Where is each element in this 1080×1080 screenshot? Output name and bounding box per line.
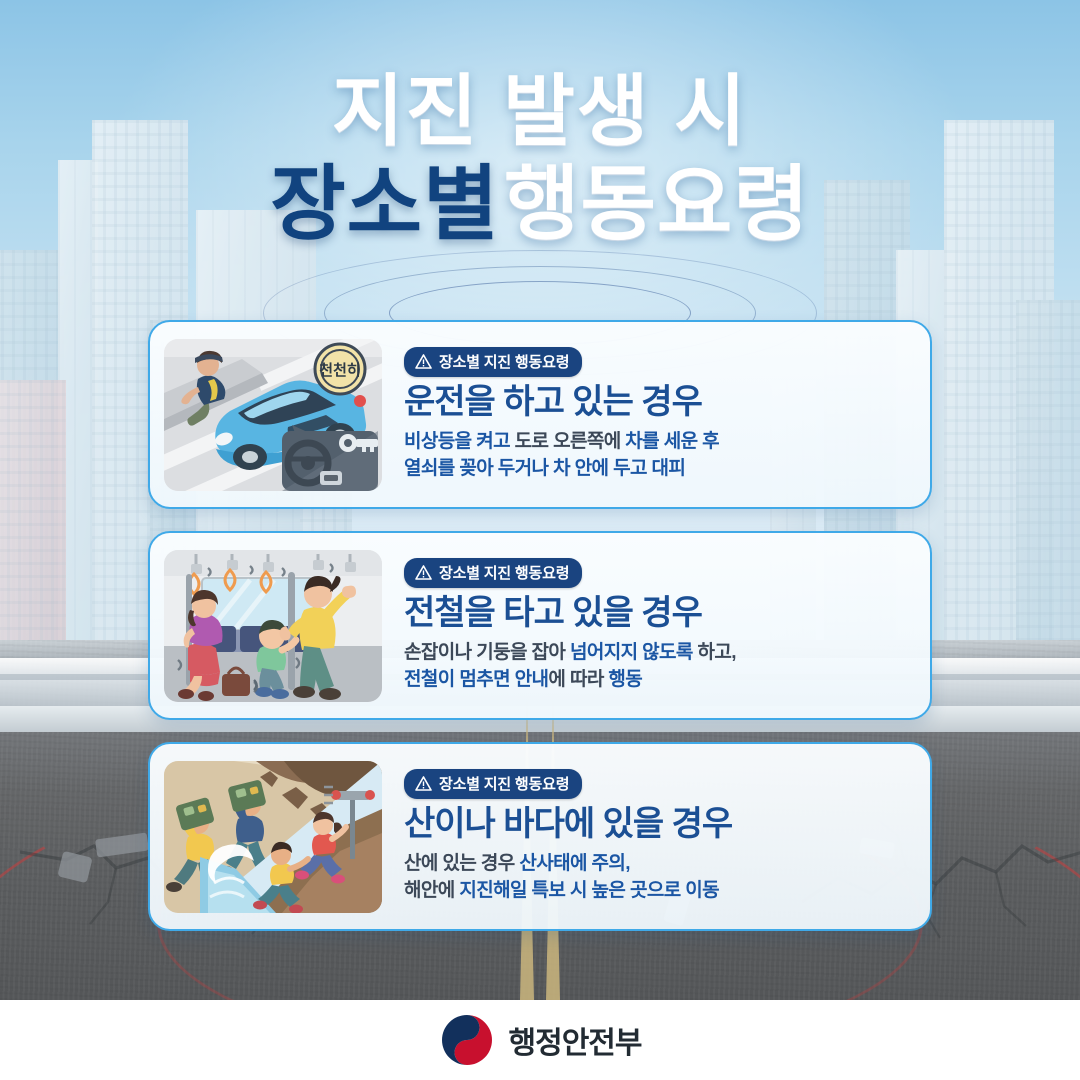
poster-title: 지진 발생 시 장소별 행동요령: [0, 72, 1080, 302]
card-mountain-sea-title: 산이나 바다에 있을 경우: [404, 806, 914, 843]
desc-seg: 넘어지지 않도록: [570, 642, 693, 663]
warning-triangle-icon: [415, 776, 432, 791]
warning-triangle-icon: [415, 354, 432, 369]
card-subway-body: 장소별 지진 행동요령 전철을 타고 있을 경우 손잡이나 기둥을 잡아 넘어지…: [382, 558, 930, 693]
card-subway-badge-label: 장소별 지진 행동요령: [439, 562, 569, 583]
card-mountain-sea-badge: 장소별 지진 행동요령: [404, 769, 582, 799]
guidance-card-list: 천천히: [148, 320, 932, 953]
desc-seg: 하고,: [693, 642, 736, 663]
title-line-1: 지진 발생 시: [0, 72, 1080, 150]
desc-seg: 해안에: [404, 880, 459, 901]
svg-text:천천히: 천천히: [319, 361, 360, 379]
illustration-car-on-road: 천천히: [164, 339, 382, 491]
card-driving[interactable]: 천천히: [148, 320, 932, 509]
agency-name: 행정안전부: [509, 1018, 642, 1062]
card-mountain-sea-desc: 산에 있는 경우 산사태에 주의, 해안에 지진해일 특보 시 높은 곳으로 이…: [404, 851, 914, 903]
desc-seg: 비상등을 켜고: [404, 431, 515, 452]
desc-seg: 열쇠를 꽂아 두거나 차 안에 두고 대피: [404, 458, 685, 479]
taegeuk-government-logo: [439, 1012, 495, 1068]
card-subway-badge: 장소별 지진 행동요령: [404, 558, 582, 588]
card-mountain-sea-body: 장소별 지진 행동요령 산이나 바다에 있을 경우 산에 있는 경우 산사태에 …: [382, 769, 930, 904]
title-line-2-highlight: 장소별: [270, 159, 499, 250]
card-subway-desc: 손잡이나 기둥을 잡아 넘어지지 않도록 하고, 전철이 멈추면 안내에 따라 …: [404, 640, 914, 692]
desc-seg: 전철이 멈추면 안내: [404, 669, 548, 690]
title-line-2-rest: 행동요령: [504, 159, 810, 250]
card-subway[interactable]: 장소별 지진 행동요령 전철을 타고 있을 경우 손잡이나 기둥을 잡아 넘어지…: [148, 531, 932, 720]
desc-seg: 산사태에 주의,: [519, 853, 630, 874]
card-driving-badge-label: 장소별 지진 행동요령: [439, 351, 569, 372]
card-driving-desc: 비상등을 켜고 도로 오른쪽에 차를 세운 후 열쇠를 꽂아 두거나 차 안에 …: [404, 429, 914, 481]
warning-triangle-icon: [415, 565, 432, 580]
card-subway-title: 전철을 타고 있을 경우: [404, 595, 914, 632]
footer: 행정안전부: [0, 1000, 1080, 1080]
card-driving-title: 운전을 하고 있는 경우: [404, 384, 914, 421]
card-driving-badge: 장소별 지진 행동요령: [404, 347, 582, 377]
desc-seg: 산에 있는 경우: [404, 853, 519, 874]
card-mountain-sea[interactable]: 장소별 지진 행동요령 산이나 바다에 있을 경우 산에 있는 경우 산사태에 …: [148, 742, 932, 931]
card-mountain-sea-badge-label: 장소별 지진 행동요령: [439, 773, 569, 794]
desc-seg: 행동: [608, 669, 642, 690]
card-driving-body: 장소별 지진 행동요령 운전을 하고 있는 경우 비상등을 켜고 도로 오른쪽에…: [382, 347, 930, 482]
desc-seg: 차를 세운 후: [625, 431, 719, 452]
desc-seg: 에 따라: [548, 669, 608, 690]
infographic-poster: 지진 발생 시 장소별 행동요령: [0, 0, 1080, 1080]
desc-seg: 지진해일 특보 시 높은 곳으로 이동: [459, 880, 719, 901]
desc-seg: 손잡이나 기둥을 잡아: [404, 642, 570, 663]
illustration-landslide-tsunami: [164, 761, 382, 913]
desc-seg: 도로 오른쪽에: [515, 431, 626, 452]
illustration-subway-interior: [164, 550, 382, 702]
